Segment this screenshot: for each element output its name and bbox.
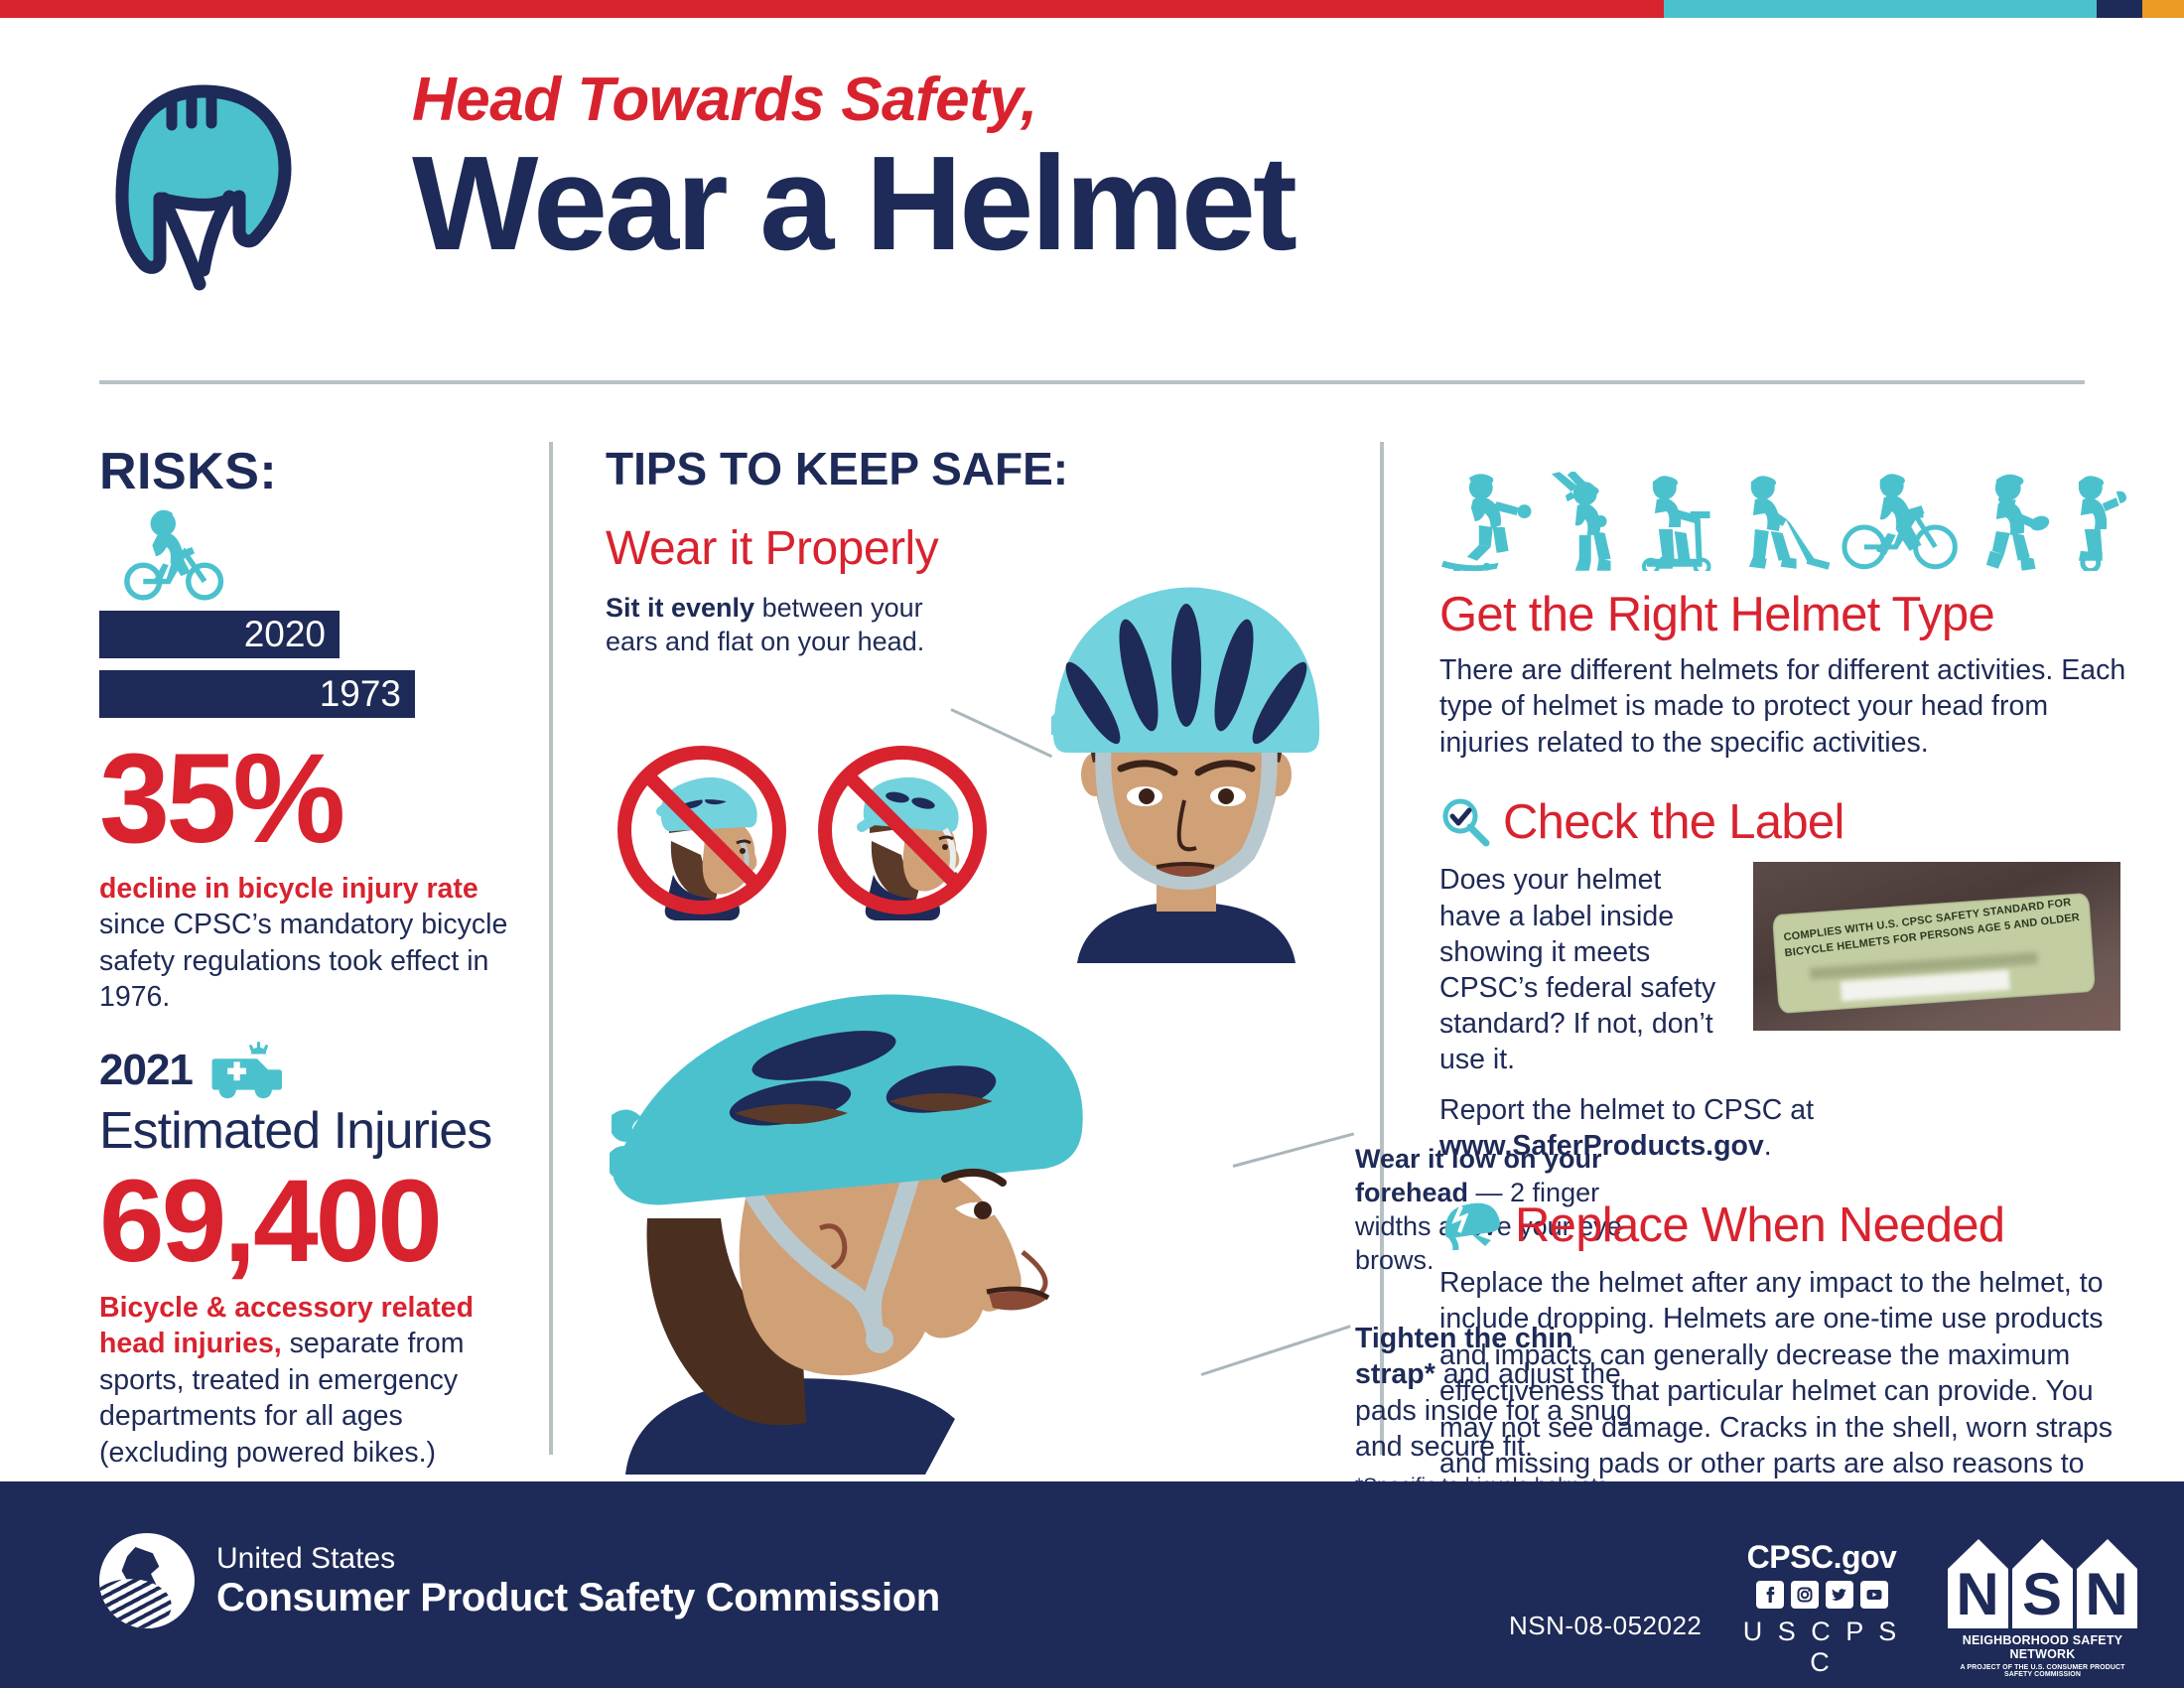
seal-stripes-shape — [99, 1577, 175, 1628]
tip-sit-evenly: Sit it evenly between your ears and flat… — [606, 591, 973, 658]
skateboarder-icon — [1439, 472, 1536, 571]
risks-column: RISKS: 2020 1973 35% decline i — [99, 442, 536, 1471]
stat-percent-rest: since CPSC’s mandatory bicycle safety re… — [99, 909, 507, 1013]
leader-line-forehead — [1233, 1132, 1354, 1168]
topbar-segment-teal — [1664, 0, 2097, 18]
nsn-subtitle-secondary: A PROJECT OF THE U.S. CONSUMER PRODUCT S… — [1946, 1664, 2139, 1679]
topbar-segment-red — [0, 0, 1664, 18]
header-kicker: Head Towards Safety, — [412, 70, 1295, 131]
svg-text:N: N — [2085, 1561, 2127, 1627]
check-label-heading-row: Check the Label — [1439, 794, 2134, 850]
report-prefix: Report the helmet to CPSC at — [1439, 1094, 1814, 1126]
person-wearing-helmet-side-view — [596, 958, 1211, 1475]
header: Head Towards Safety, Wear a Helmet — [0, 60, 2184, 357]
topbar-segment-navy — [2097, 0, 2142, 18]
cpsc-seal-icon — [99, 1533, 195, 1628]
stat-percent-bold: decline in bicycle injury rate — [99, 873, 478, 905]
stat-count: 69,400 — [99, 1163, 536, 1280]
cpsc-gov-label[interactable]: CPSC.gov — [1742, 1541, 1901, 1573]
title-block: Head Towards Safety, Wear a Helmet — [412, 70, 1295, 274]
column-divider-left — [549, 442, 553, 1455]
nsn-code: NSN-08-052022 — [1509, 1611, 1702, 1641]
risks-title: RISKS: — [99, 442, 536, 501]
top-color-bar — [0, 0, 2184, 18]
baseball-batter-icon — [1538, 472, 1628, 571]
helmet-type-title: Get the Right Helmet Type — [1439, 587, 2134, 642]
football-player-icon — [1963, 472, 2059, 571]
hoverboard-rider-icon — [2061, 472, 2134, 571]
child-on-bicycle-icon — [121, 507, 230, 607]
agency-line-1: United States — [216, 1542, 940, 1575]
helmet-type-body: There are different helmets for differen… — [1439, 652, 2134, 761]
helmet-icon — [104, 79, 303, 298]
svg-text:N: N — [1956, 1561, 1998, 1627]
ambulance-icon — [206, 1042, 286, 1099]
kick-scooter-rider-icon — [1631, 472, 1725, 571]
header-divider — [99, 380, 2085, 384]
safer-products-link[interactable]: www.SaferProducts.gov — [1439, 1130, 1764, 1162]
activity-icon-row — [1439, 462, 2134, 571]
agency-name: United States Consumer Product Safety Co… — [216, 1542, 940, 1620]
person-wearing-helmet-front-view — [1018, 566, 1355, 963]
social-icon-row — [1742, 1581, 1901, 1609]
youtube-icon[interactable] — [1860, 1581, 1888, 1609]
nsn-subtitle-primary: NEIGHBORHOOD SAFETY NETWORK — [1946, 1634, 2139, 1662]
twitter-icon[interactable] — [1826, 1581, 1853, 1609]
no-helmet-tilted-forward-icon — [812, 740, 993, 920]
bar-1973-label: 1973 — [320, 673, 401, 715]
year-ambulance-row: 2021 — [99, 1042, 536, 1099]
helmet-certification-label-photo: COMPLIES WITH U.S. CPSC SAFETY STANDARD … — [1753, 862, 2120, 1031]
infographic-page: Head Towards Safety, Wear a Helmet RISKS… — [0, 0, 2184, 1688]
magnifier-check-icon — [1439, 796, 1491, 848]
uscpsc-handle: U S C P S C — [1742, 1617, 1901, 1678]
check-label-body: Does your helmet have a label inside sho… — [1439, 862, 1727, 1077]
bar-2020-label: 2020 — [244, 614, 326, 655]
report-suffix: . — [1764, 1130, 1772, 1162]
estimated-injuries-label: Estimated Injuries — [99, 1101, 536, 1161]
bar-2020: 2020 — [99, 611, 340, 658]
nsn-peaks-icon: N S N — [1946, 1533, 2139, 1632]
stat-percent-description: decline in bicycle injury rate since CPS… — [99, 871, 536, 1016]
cpsc-gov-block: CPSC.gov U S C P S C — [1742, 1541, 1901, 1678]
hockey-player-icon — [1727, 472, 1836, 571]
prohibited-helmet-positions — [612, 740, 993, 920]
check-label-row: Does your helmet have a label inside sho… — [1439, 862, 2134, 1077]
stat-percent: 35% — [99, 736, 536, 863]
cpsc-logo: United States Consumer Product Safety Co… — [99, 1533, 940, 1628]
replace-body: Replace the helmet after any impact to t… — [1439, 1265, 2134, 1518]
tips-title: TIPS TO KEEP SAFE: — [606, 442, 1360, 495]
instagram-icon[interactable] — [1791, 1581, 1819, 1609]
agency-line-2: Consumer Product Safety Commission — [216, 1575, 940, 1620]
no-helmet-tilted-back-icon — [612, 740, 792, 920]
nsn-logo: N S N NEIGHBORHOOD SAFETY NETWORK A PROJ… — [1946, 1533, 2139, 1679]
stat-count-description: Bicycle & accessory related head injurie… — [99, 1290, 536, 1471]
tip-sit-evenly-bold: Sit it evenly — [606, 593, 754, 623]
facebook-icon[interactable] — [1756, 1581, 1784, 1609]
tips-column: TIPS TO KEEP SAFE: Wear it Properly Sit … — [606, 442, 1360, 598]
report-helmet-text: Report the helmet to CPSC at www.SaferPr… — [1439, 1092, 2134, 1164]
footer: United States Consumer Product Safety Co… — [0, 1481, 2184, 1688]
helmet-guidance-column: Get the Right Helmet Type There are diff… — [1439, 462, 2134, 1518]
column-divider-right — [1380, 442, 1384, 1455]
certification-sticker: COMPLIES WITH U.S. CPSC SAFETY STANDARD … — [1772, 893, 2096, 1014]
replace-heading-row: Replace When Needed — [1439, 1197, 2134, 1253]
topbar-segment-orange — [2142, 0, 2184, 18]
bicyclist-icon — [1839, 472, 1961, 571]
cracked-helmet-icon — [1439, 1200, 1503, 1250]
page-title: Wear a Helmet — [412, 133, 1295, 274]
leader-line-chin-strap — [1201, 1325, 1351, 1376]
check-label-title: Check the Label — [1503, 794, 1844, 850]
bar-1973: 1973 — [99, 670, 415, 718]
replace-title: Replace When Needed — [1515, 1197, 2004, 1253]
svg-text:S: S — [2022, 1561, 2062, 1627]
stat-year: 2021 — [99, 1046, 193, 1095]
